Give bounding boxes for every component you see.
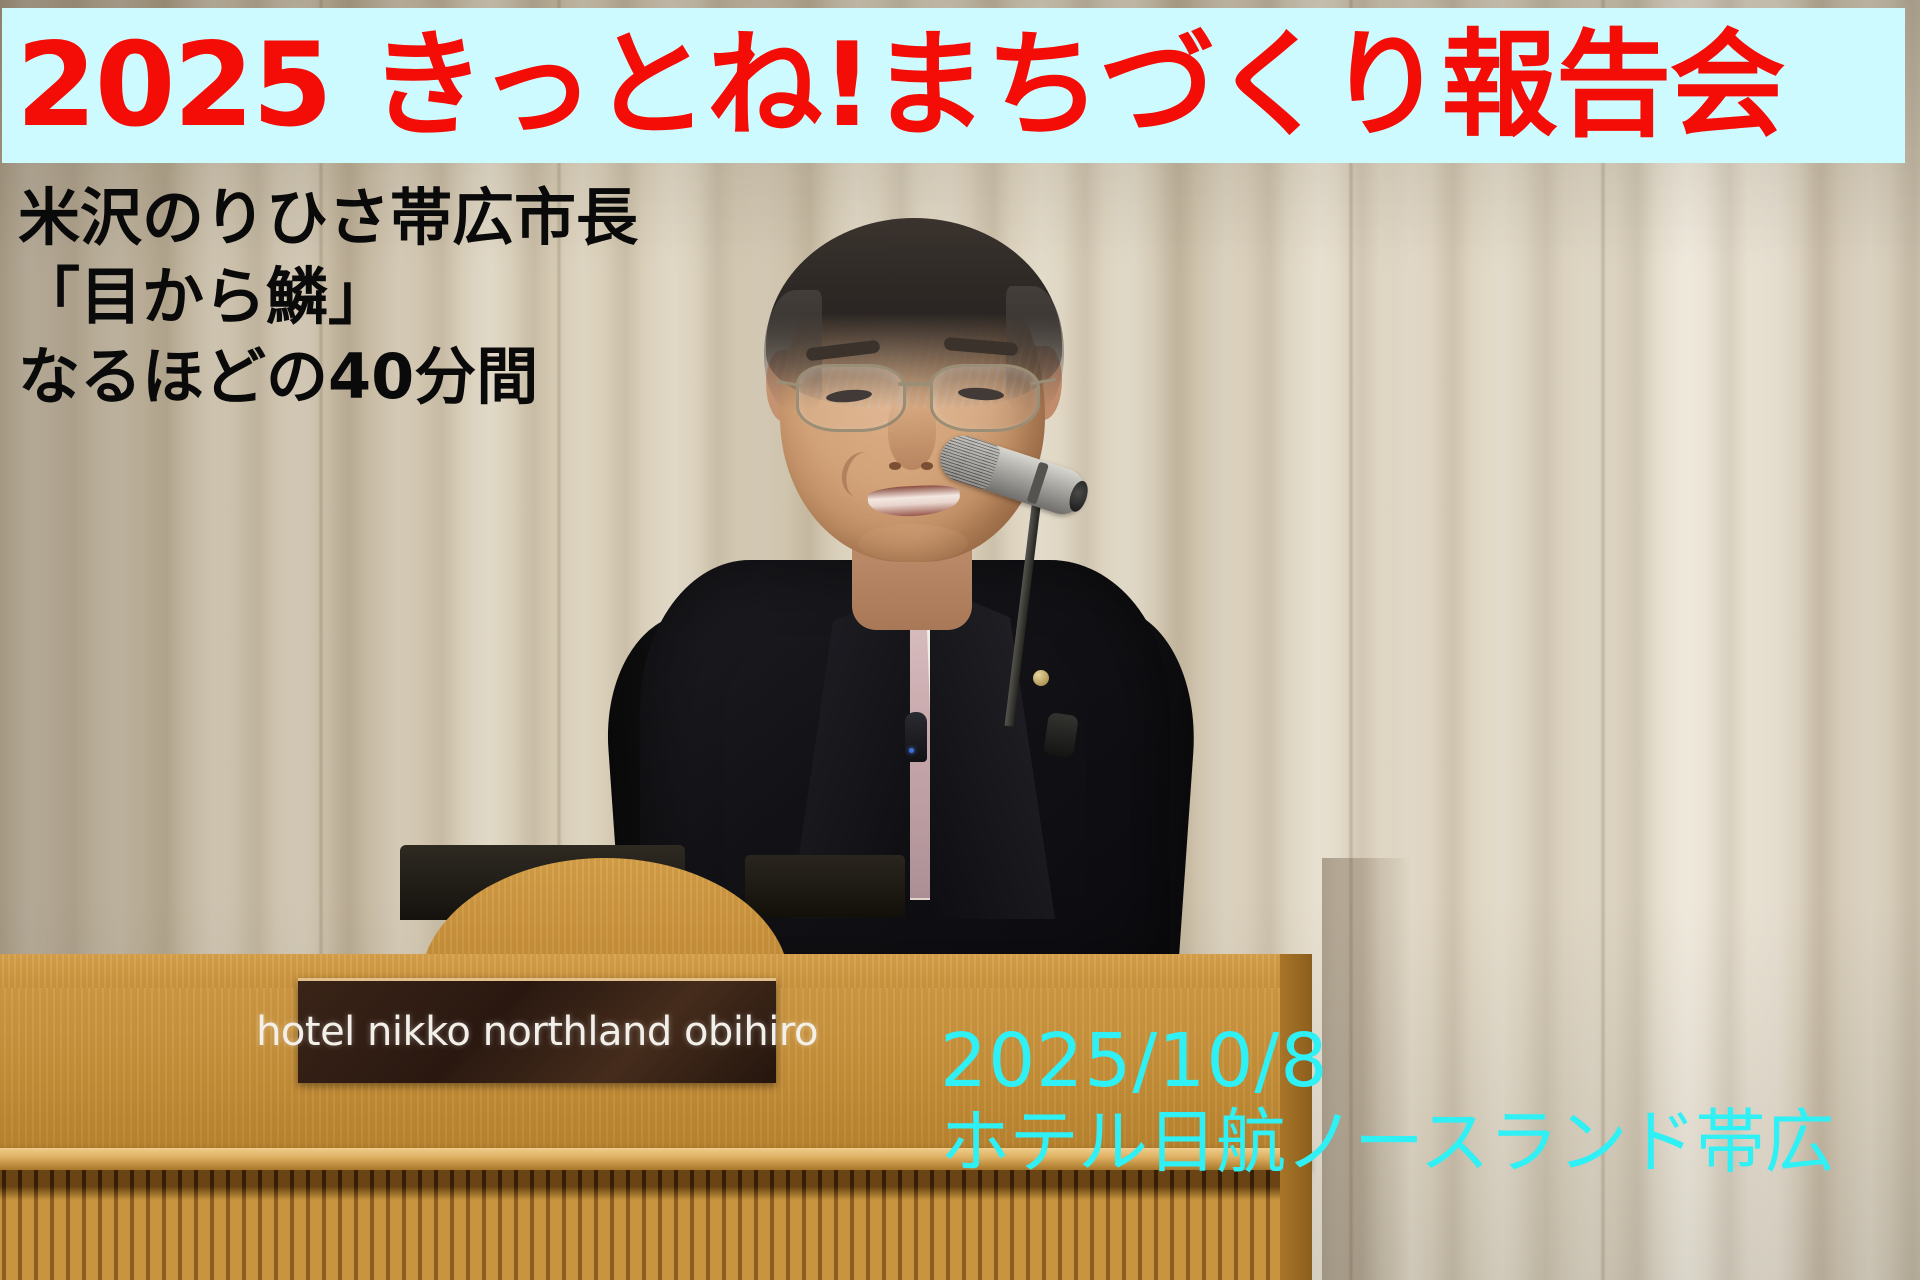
event-date: 2025/10/8 — [940, 1020, 1920, 1103]
title-banner: 2025 きっとね!まちづくり報告会 — [2, 8, 1905, 163]
lapel-microphone-icon — [905, 712, 927, 762]
microphone-ring — [1026, 462, 1048, 505]
poster-image: hotel nikko northland obihiro 2025 きっとね!… — [0, 0, 1920, 1280]
banner-title-text: 2025 きっとね!まちづくり報告会 — [2, 28, 1784, 144]
lapel-pin-icon — [1033, 670, 1049, 686]
overlay-line-2: 「目から鱗」 — [18, 257, 918, 336]
overlay-text-left: 米沢のりひさ帯広市長 「目から鱗」 なるほどの40分間 — [18, 178, 918, 416]
podium-nameplate-text: hotel nikko northland obihiro — [256, 1009, 818, 1055]
nostril-right — [921, 462, 933, 470]
podium-nameplate: hotel nikko northland obihiro — [298, 978, 776, 1083]
overlay-line-1: 米沢のりひさ帯広市長 — [18, 178, 918, 257]
nostril-left — [889, 462, 901, 470]
overlay-text-right: 2025/10/8 ホテル日航ノースランド帯広 — [940, 1020, 1920, 1183]
overlay-line-3: なるほどの40分間 — [18, 337, 918, 416]
event-venue: ホテル日航ノースランド帯広 — [940, 1103, 1920, 1183]
microphone-mount — [1043, 712, 1079, 758]
chin-highlight — [858, 524, 968, 562]
eyeglass-lens-right — [930, 364, 1040, 432]
